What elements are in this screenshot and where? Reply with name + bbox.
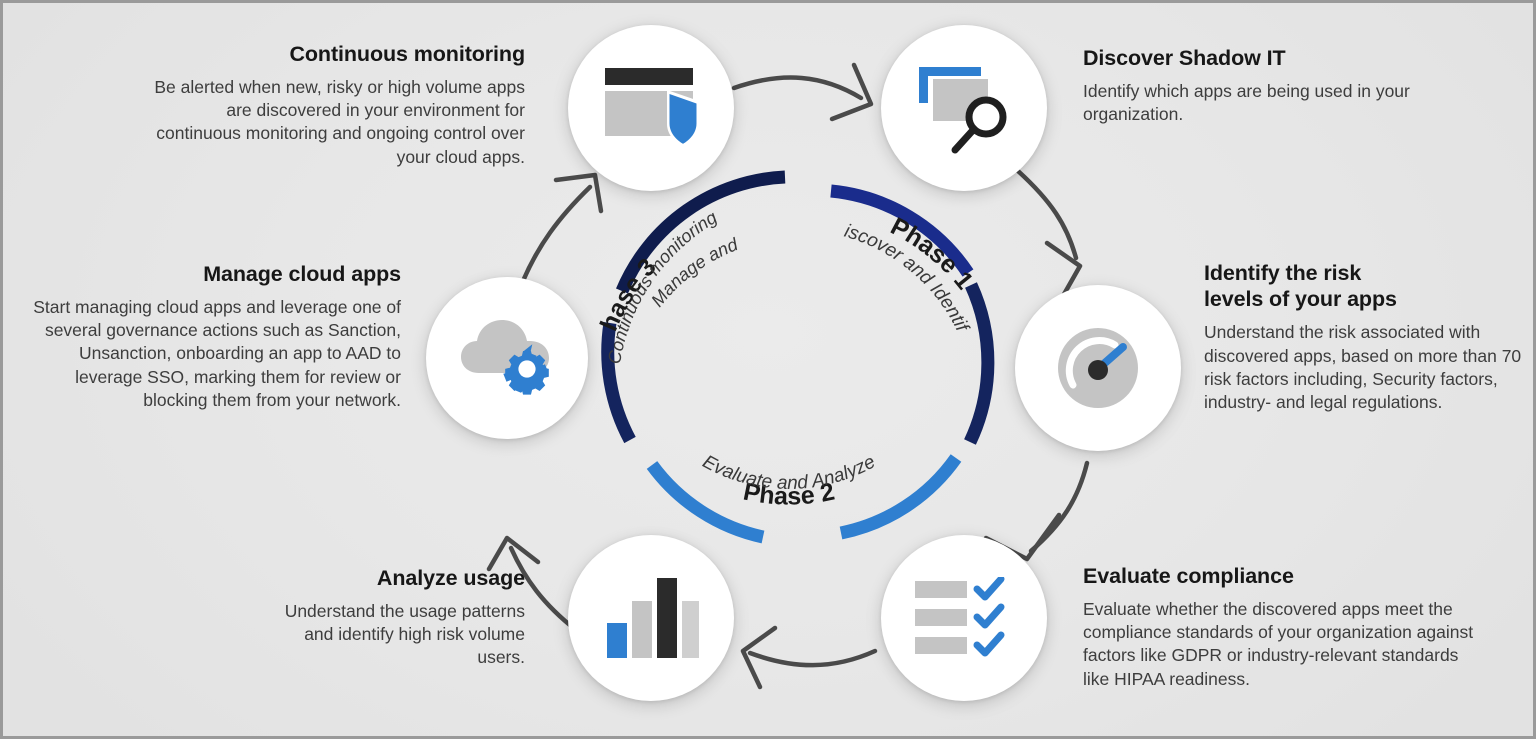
arrow-compliance-to-analyze xyxy=(743,628,875,687)
body-identify-risk-levels: Understand the risk associated with disc… xyxy=(1204,321,1524,413)
body-discover-shadow-it: Identify which apps are being used in yo… xyxy=(1083,80,1413,126)
heading-manage-cloud-apps: Manage cloud apps xyxy=(33,261,401,287)
window-shield-icon xyxy=(599,62,703,154)
block-identify-risk-levels: Identify the risk levels of your apps Un… xyxy=(1204,260,1524,414)
gear-body xyxy=(505,351,549,395)
node-continuous-monitoring[interactable] xyxy=(568,25,734,191)
node-identify-risk-levels[interactable] xyxy=(1015,285,1181,451)
body-continuous-monitoring: Be alerted when new, risky or high volum… xyxy=(153,76,525,168)
body-analyze-usage: Understand the usage patterns and identi… xyxy=(253,600,525,669)
arrow-cloud-to-monitoring xyxy=(523,175,601,281)
block-analyze-usage: Analyze usage Understand the usage patte… xyxy=(253,565,525,670)
block-evaluate-compliance: Evaluate compliance Evaluate whether the… xyxy=(1083,563,1483,691)
heading-line-1: Identify the risk xyxy=(1204,261,1361,285)
block-continuous-monitoring: Continuous monitoring Be alerted when ne… xyxy=(153,41,525,169)
body-manage-cloud-apps: Start managing cloud apps and leverage o… xyxy=(33,296,401,411)
heading-discover-shadow-it: Discover Shadow IT xyxy=(1083,45,1413,71)
heading-continuous-monitoring: Continuous monitoring xyxy=(153,41,525,67)
node-analyze-usage[interactable] xyxy=(568,535,734,701)
phase-2-subtitle: Evaluate and Analyze xyxy=(699,451,879,494)
phase-1-arc-lower xyxy=(970,285,988,442)
heading-line-2: levels of your apps xyxy=(1204,287,1397,311)
heading-analyze-usage: Analyze usage xyxy=(253,565,525,591)
checklist-icon xyxy=(913,577,1015,659)
heading-identify-risk-levels: Identify the risk levels of your apps xyxy=(1204,260,1524,312)
node-evaluate-compliance[interactable] xyxy=(881,535,1047,701)
node-manage-cloud-apps[interactable] xyxy=(426,277,588,439)
block-discover-shadow-it: Discover Shadow IT Identify which apps a… xyxy=(1083,45,1413,126)
arrow-discover-to-risk xyxy=(1018,171,1080,296)
heading-evaluate-compliance: Evaluate compliance xyxy=(1083,563,1483,589)
cloud-gear-icon xyxy=(457,317,557,399)
gauge-icon xyxy=(1049,319,1147,417)
body-evaluate-compliance: Evaluate whether the discovered apps mee… xyxy=(1083,598,1483,690)
arrow-monitoring-to-discover xyxy=(734,65,871,119)
window-magnifier-icon xyxy=(911,59,1017,157)
block-manage-cloud-apps: Manage cloud apps Start managing cloud a… xyxy=(33,261,401,412)
node-discover-shadow-it[interactable] xyxy=(881,25,1047,191)
diagram-canvas: Phase 1 Discover and Identify Phase 3 Ma… xyxy=(0,0,1536,739)
bar-chart-icon xyxy=(603,576,699,660)
